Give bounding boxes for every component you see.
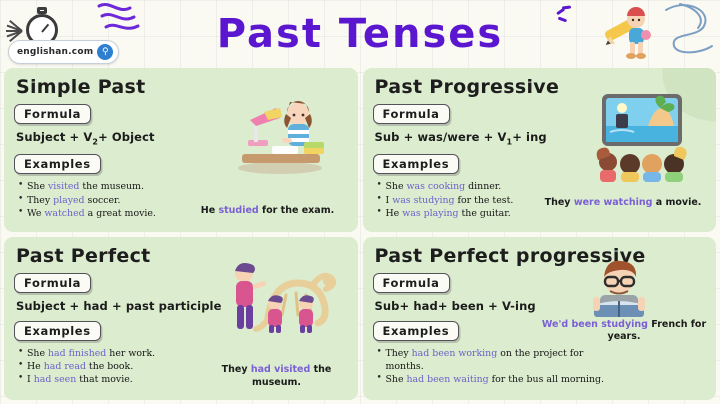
panel-caption: We'd been studying French for years.: [536, 319, 712, 345]
list-item: They had been working on the project for…: [377, 347, 613, 374]
list-item: She had finished her work.: [18, 347, 233, 360]
list-item: I had seen that movie.: [18, 373, 233, 386]
panel-past-perfect[interactable]: Past Perfect Formula Subject + had + pas…: [4, 237, 358, 401]
formula-chip: Formula: [14, 104, 91, 124]
panel-title: Past Perfect progressive: [375, 245, 707, 267]
panel-caption: He studied for the exam.: [184, 205, 352, 218]
kid-with-pencil-icon: [596, 2, 658, 64]
museum-dinosaur-skeleton-icon: [218, 255, 336, 335]
list-item: He had read the book.: [18, 360, 233, 373]
formula-chip: Formula: [14, 273, 91, 293]
examples-chip: Examples: [14, 321, 101, 341]
list-item: She had been waiting for the bus all mor…: [377, 373, 613, 386]
spark-lines-icon: [556, 6, 582, 32]
panel-past-progressive[interactable]: Past Progressive Formula Sub + was/were …: [363, 68, 717, 232]
examples-chip: Examples: [14, 154, 101, 174]
girl-studying-at-desk-with-lamp-icon: [228, 90, 332, 176]
header: englishan.com ⚲ Past Tenses: [0, 0, 720, 68]
blue-squiggle-icon: [660, 2, 718, 58]
list-item: She was cooking dinner.: [377, 180, 592, 193]
formula-chip: Formula: [373, 273, 450, 293]
man-reading-book-icon: [582, 257, 656, 319]
tense-panels-grid: Simple Past Formula Subject + V2+ Object…: [4, 68, 716, 400]
list-item: She visited the museum.: [18, 180, 233, 193]
panel-caption: They had visited the museum.: [204, 364, 350, 390]
panel-caption: They were watching a movie.: [534, 197, 712, 210]
panel-simple-past[interactable]: Simple Past Formula Subject + V2+ Object…: [4, 68, 358, 232]
people-watching-tv-screen-icon: [586, 90, 698, 182]
formula-chip: Formula: [373, 104, 450, 124]
formula-text: Sub+ had+ been + V-ing: [375, 299, 707, 313]
examples-list: They had been working on the project for…: [377, 347, 707, 387]
examples-chip: Examples: [373, 321, 460, 341]
examples-chip: Examples: [373, 154, 460, 174]
panel-past-perfect-progressive[interactable]: Past Perfect progressive Formula Sub+ ha…: [363, 237, 717, 401]
